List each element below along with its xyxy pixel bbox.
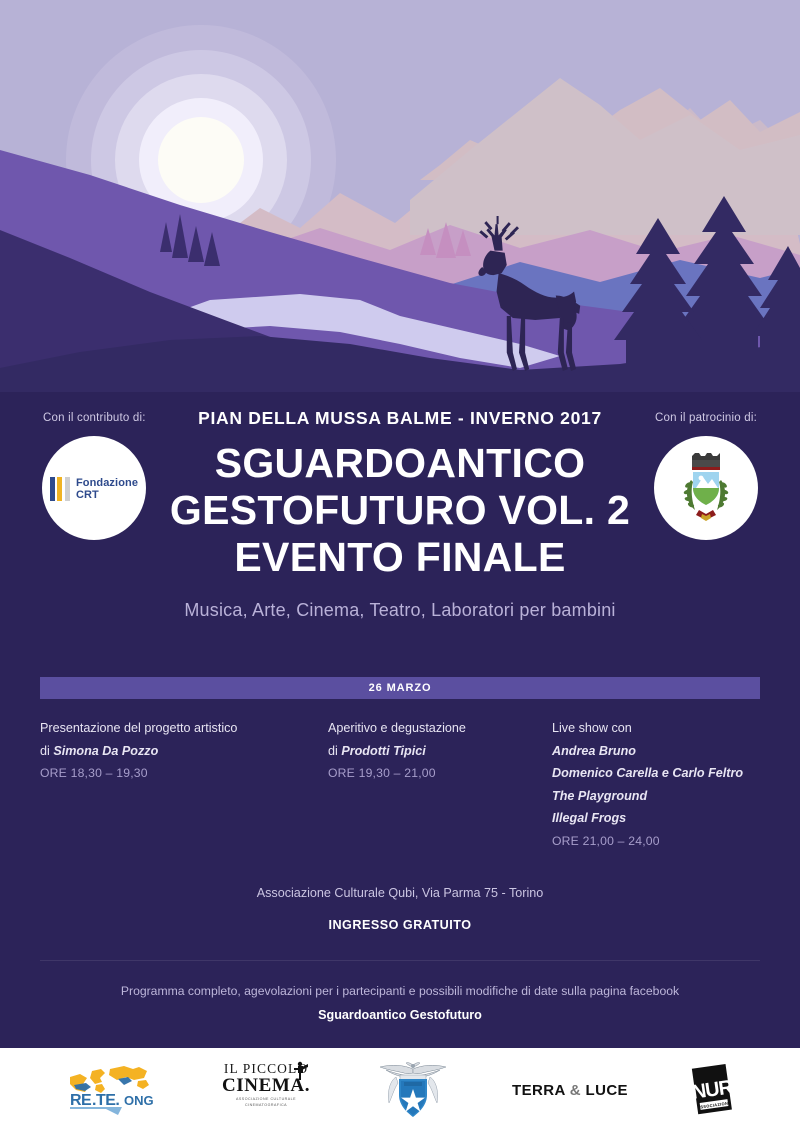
program-3-artist-4: Illegal Frogs: [552, 807, 744, 830]
date-bar-label: 26 MARZO: [369, 682, 432, 694]
terra-e-luce-logo: TERRA & LUCE: [512, 1060, 628, 1120]
nur-logo: NUR ASSOCIAZIONE: [688, 1060, 738, 1120]
poster-subtitle: Musica, Arte, Cinema, Teatro, Laboratori…: [0, 600, 800, 621]
program-2-name: Prodotti Tipici: [341, 744, 425, 758]
piccolo-line3: ASSOCIAZIONE CULTURALE CINEMATOGRAFICA: [218, 1096, 314, 1108]
date-bar: 26 MARZO: [40, 677, 760, 699]
section-divider: [40, 960, 760, 961]
world-map-icon: RE .TE. ONG: [62, 1063, 158, 1117]
poster-body: Con il contributo di: Con il patrocinio …: [0, 392, 800, 1048]
program-column-2: Aperitivo e degustazione di Prodotti Tip…: [328, 717, 552, 852]
partner-logo-strip: RE .TE. ONG IL PICCOLO CINEMA. ASSOCIAZI…: [0, 1048, 800, 1132]
terraluce-amp: &: [570, 1082, 581, 1099]
kicker-line: PIAN DELLA MUSSA BALME - INVERNO 2017: [0, 408, 800, 429]
free-entry-label: INGRESSO GRATUITO: [0, 918, 800, 932]
program-3-artist-3: The Playground: [552, 785, 744, 808]
facebook-page-name: Sguardoantico Gestofuturo: [0, 1008, 800, 1022]
title-line-1: SGUARDOANTICO: [120, 440, 680, 487]
program-1-name-row: di Simona Da Pozzo: [40, 740, 312, 763]
program-1-time: ORE 18,30 – 19,30: [40, 762, 312, 785]
program-2-lead: Aperitivo e degustazione: [328, 717, 536, 740]
program-3-lead: Live show con: [552, 717, 744, 740]
event-poster: Con il contributo di: Con il patrocinio …: [0, 0, 800, 1132]
blue-shield-crest-logo: [374, 1060, 452, 1120]
il-piccolo-cinema-logo: IL PICCOLO CINEMA. ASSOCIAZIONE CULTURAL…: [218, 1060, 314, 1120]
title-line-3: EVENTO FINALE: [120, 534, 680, 581]
nur-tile-icon: NUR ASSOCIAZIONE: [688, 1062, 738, 1118]
program-2-time: ORE 19,30 – 21,00: [328, 762, 536, 785]
title-line-2: GESTOFUTURO VOL. 2: [120, 487, 680, 534]
program-3-artist-2: Domenico Carella e Carlo Feltro: [552, 762, 744, 785]
program-column-1: Presentazione del progetto artistico di …: [40, 717, 328, 852]
program-3-artist-1: Andrea Bruno: [552, 740, 744, 763]
rete-ong-logo: RE .TE. ONG: [62, 1060, 158, 1120]
mountain-landscape-illustration: [0, 0, 800, 392]
svg-text:ONG: ONG: [124, 1093, 154, 1108]
program-3-time: ORE 21,00 – 24,00: [552, 830, 744, 853]
program-column-3: Live show con Andrea Bruno Domenico Care…: [552, 717, 760, 852]
program-columns: Presentazione del progetto artistico di …: [40, 717, 760, 852]
svg-text:RE: RE: [70, 1092, 92, 1109]
eagle-shield-icon: [374, 1061, 452, 1119]
program-2-name-row: di Prodotti Tipici: [328, 740, 536, 763]
poster-title: SGUARDOANTICO GESTOFUTURO VOL. 2 EVENTO …: [120, 440, 680, 581]
crt-bars-icon: [50, 477, 70, 501]
venue-address: Associazione Culturale Qubi, Via Parma 7…: [0, 886, 800, 900]
terraluce-word2: LUCE: [586, 1082, 628, 1099]
terraluce-word1: TERRA: [512, 1082, 565, 1099]
program-1-name: Simona Da Pozzo: [53, 744, 158, 758]
program-2-prefix: di: [328, 744, 341, 758]
facebook-note: Programma completo, agevolazioni per i p…: [0, 984, 800, 998]
program-1-prefix: di: [40, 744, 53, 758]
program-1-lead: Presentazione del progetto artistico: [40, 717, 312, 740]
cameraman-figure-icon: [292, 1060, 310, 1080]
coat-of-arms-icon: [677, 452, 735, 524]
svg-text:.TE.: .TE.: [92, 1092, 119, 1109]
